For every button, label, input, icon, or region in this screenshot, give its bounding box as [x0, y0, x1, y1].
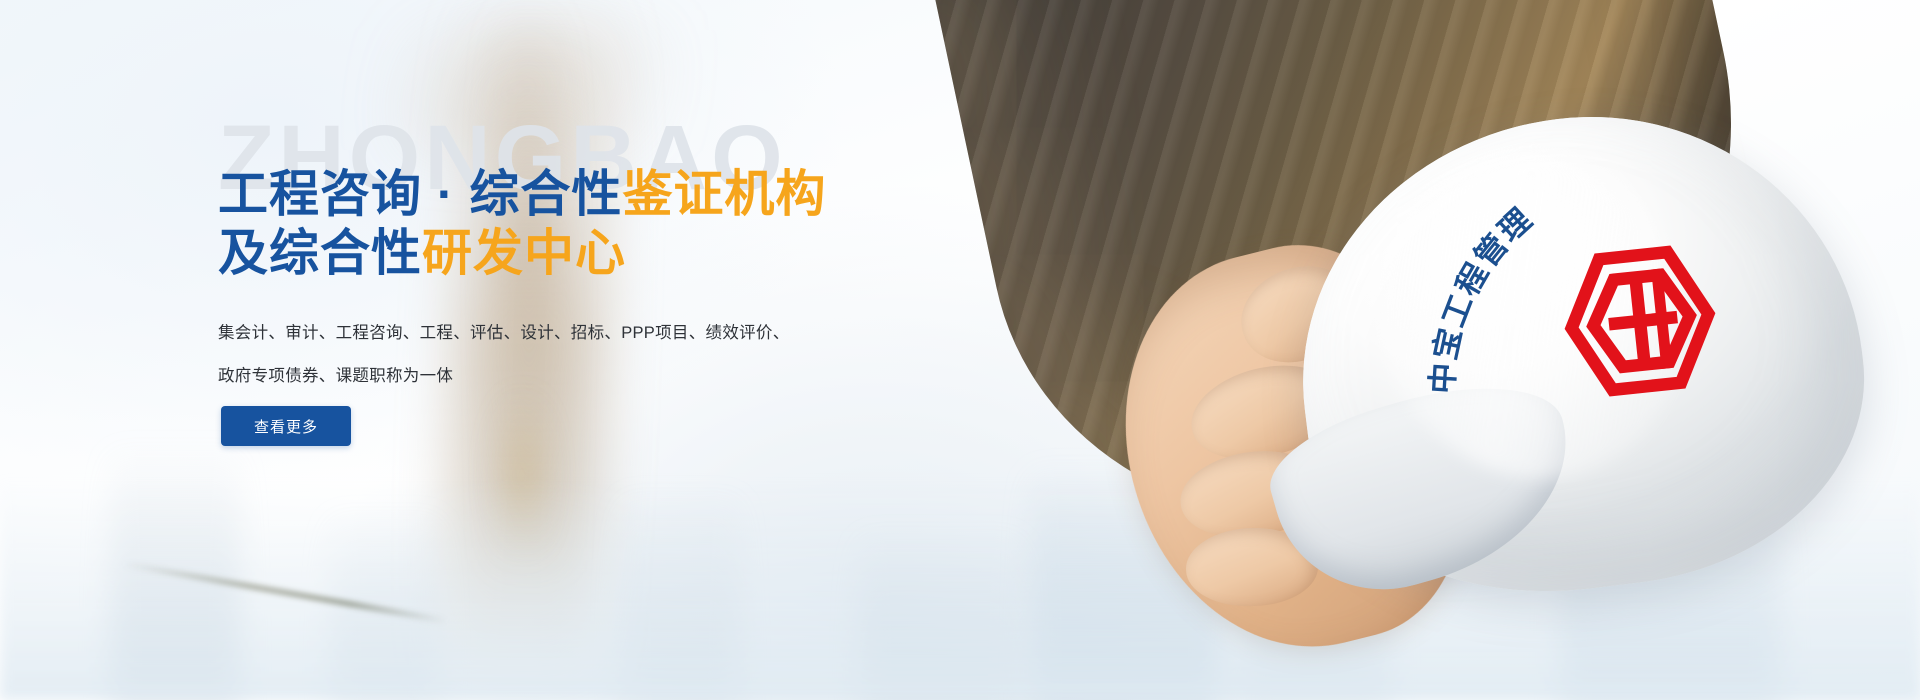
description: 集会计、审计、工程咨询、工程、评估、设计、招标、PPP项目、绩效评价、 政府专项…	[218, 312, 790, 398]
headline-line-2-orange: 研发中心	[422, 225, 626, 281]
headline-line-1-orange: 鉴证机构	[622, 166, 826, 222]
headline: 工程咨询 · 综合性鉴证机构 及综合性研发中心	[218, 165, 826, 283]
banner-copy: ZHONGBAO 工程咨询 · 综合性鉴证机构 及综合性研发中心 集会计、审计、…	[0, 0, 1920, 700]
headline-line-1-blue: 工程咨询 · 综合性	[218, 166, 622, 222]
headline-line-2: 及综合性研发中心	[218, 224, 826, 283]
view-more-button[interactable]: 查看更多	[221, 406, 351, 446]
description-line-1: 集会计、审计、工程咨询、工程、评估、设计、招标、PPP项目、绩效评价、	[218, 312, 790, 355]
headline-line-2-blue: 及综合性	[218, 225, 422, 281]
hero-banner: 中宝工程管理 ZHONGBAO 工程咨询 · 综合性鉴证机构	[0, 0, 1920, 700]
description-line-2: 政府专项债券、课题职称为一体	[218, 355, 790, 398]
headline-line-1: 工程咨询 · 综合性鉴证机构	[218, 165, 826, 224]
